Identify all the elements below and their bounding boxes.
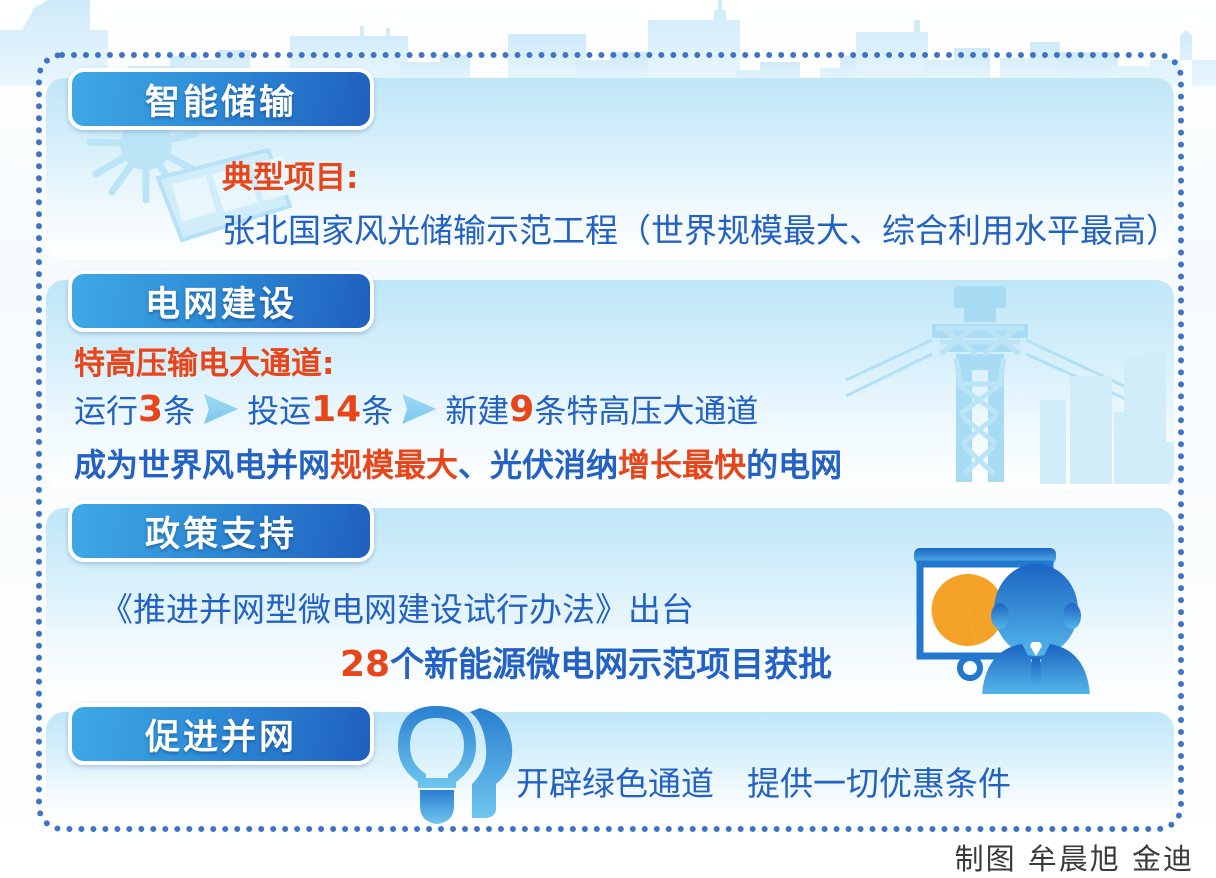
flow-text-commissioned: 投运 (247, 386, 311, 432)
flow-text-new: 新建 (445, 386, 509, 432)
pill-label: 政策支持 (145, 506, 297, 557)
summary-emphasis-largest-scale: 规模最大 (330, 446, 458, 484)
flow-unit-2: 条 (361, 386, 393, 432)
flow-unit-1: 条 (163, 386, 195, 432)
uhv-channel-label: 特高压输电大通道: (74, 338, 334, 383)
flow-text-running: 运行 (74, 386, 138, 432)
green-channel-benefit-line: 开辟绿色通道 提供一切优惠条件 (516, 757, 1011, 805)
summary-part-3: 的电网 (746, 446, 842, 484)
pill-label: 促进并网 (145, 709, 297, 760)
flow-value-new: 9 (509, 389, 534, 430)
flow-value-commissioned: 14 (311, 389, 361, 430)
summary-part-1: 成为世界风电并网 (74, 446, 330, 484)
arrow-right-icon-1 (204, 394, 238, 424)
pill-label: 电网建设 (145, 276, 297, 327)
infographic-canvas: 智能储输 电网建设 政策支持 促进并网 典型项目: 张北国家风光储输示范工程（世… (0, 0, 1216, 878)
summary-emphasis-fastest-growth: 增长最快 (618, 446, 746, 484)
flow-value-running: 3 (138, 389, 163, 430)
section-heading-smart-storage-transmission[interactable]: 智能储输 (68, 68, 374, 130)
grid-summary-line: 成为世界风电并网规模最大、光伏消纳增长最快的电网 (74, 440, 842, 486)
typical-project-detail: 张北国家风光储输示范工程（世界规模最大、综合利用水平最高） (222, 204, 1179, 252)
section-heading-promote-grid-connection[interactable]: 促进并网 (68, 703, 374, 765)
pill-label: 智能储输 (145, 74, 297, 125)
approved-projects-count: 28 (340, 644, 390, 685)
arrow-right-icon-2 (402, 394, 436, 424)
policy-document-line: 《推进并网型微电网建设试行办法》出台 (100, 583, 694, 631)
credit-line: 制图 牟晨旭 金迪 (955, 836, 1194, 878)
section-heading-policy-support[interactable]: 政策支持 (68, 500, 374, 562)
uhv-channel-flow: 运行3条投运14条新建9条特高压大通道 (74, 386, 758, 432)
approved-projects-text: 个新能源微电网示范项目获批 (390, 645, 832, 685)
flow-suffix: 条特高压大通道 (534, 386, 758, 432)
typical-project-label: 典型项目: (222, 152, 358, 197)
approved-projects-line: 28个新能源微电网示范项目获批 (340, 637, 832, 686)
summary-part-2: 、光伏消纳 (458, 446, 618, 484)
section-heading-grid-construction[interactable]: 电网建设 (68, 270, 374, 332)
